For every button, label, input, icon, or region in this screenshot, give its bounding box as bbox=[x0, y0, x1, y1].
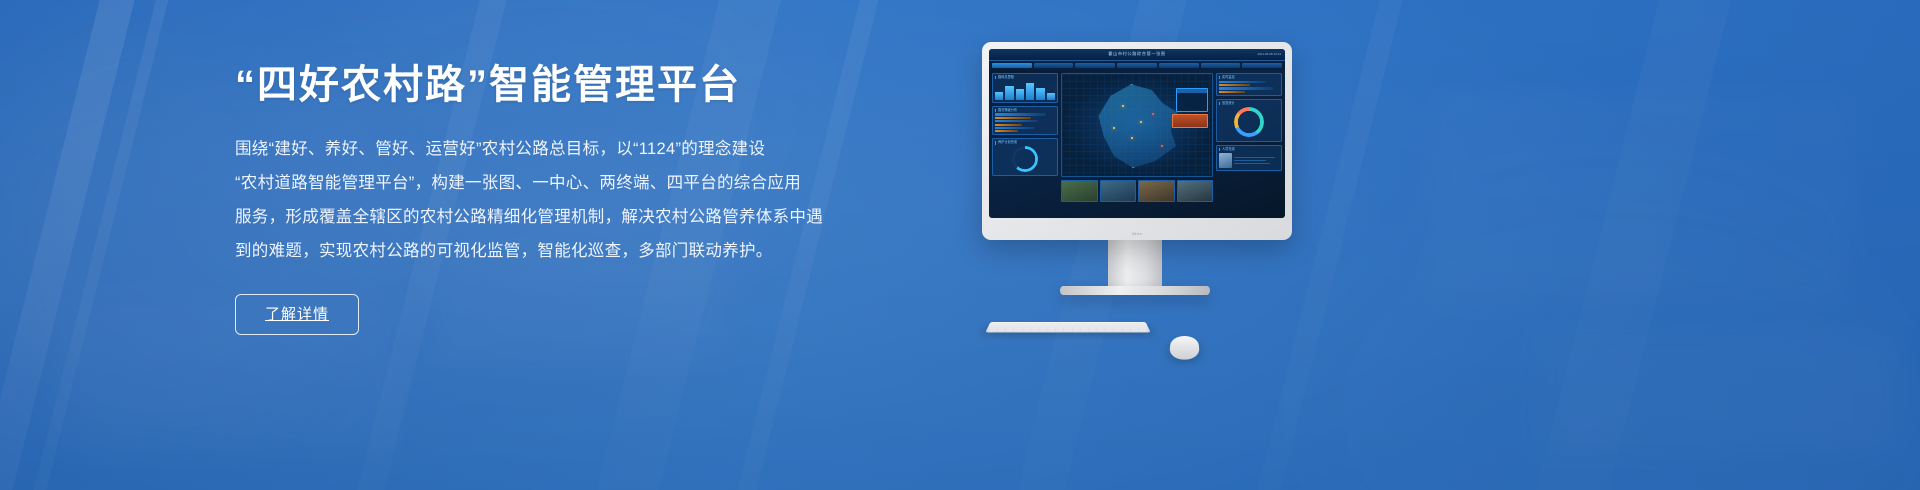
map-alert-badge bbox=[1172, 114, 1208, 128]
nav-item-6[interactable] bbox=[1242, 63, 1282, 68]
dashboard-ui: 霍山市村公路综合管一张图 2021-06-08 10:24 bbox=[989, 49, 1285, 218]
dashboard-right-column: 实时监控 巡查统计 人员在线 bbox=[1216, 73, 1282, 202]
person-details bbox=[1234, 157, 1279, 165]
thumbnail-0[interactable] bbox=[1061, 180, 1098, 202]
description-line-3: 服务，形成覆盖全辖区的农村公路精细化管理机制，解决农村公路管养体系中遇 bbox=[235, 201, 855, 235]
dashboard-clock: 2021-06-08 10:24 bbox=[1257, 53, 1281, 56]
monitor-screen: 霍山市村公路综合管一张图 2021-06-08 10:24 bbox=[989, 49, 1285, 218]
card-heading: 路况等级分布 bbox=[995, 109, 1055, 112]
dashboard-nav[interactable] bbox=[989, 61, 1285, 70]
nav-item-4[interactable] bbox=[1159, 63, 1199, 68]
list-rows bbox=[1219, 81, 1279, 93]
hero-description: 围绕“建好、养好、管好、运营好”农村公路总目标，以“1124”的理念建设 “农村… bbox=[235, 133, 855, 268]
thumbnail-3[interactable] bbox=[1177, 180, 1214, 202]
card-heading: 实时监控 bbox=[1219, 76, 1279, 79]
donut-chart bbox=[1234, 107, 1264, 137]
card-road-condition: 路况等级分布 bbox=[992, 106, 1058, 136]
thumbnail-1[interactable] bbox=[1100, 180, 1137, 202]
nav-item-0[interactable] bbox=[992, 63, 1032, 68]
card-road-mileage: 路网总里程 bbox=[992, 73, 1058, 103]
monitor-stand-neck bbox=[1108, 240, 1162, 286]
mouse bbox=[1169, 336, 1200, 360]
person-entry bbox=[1219, 153, 1279, 168]
card-personnel-online: 人员在线 bbox=[1216, 145, 1282, 171]
list-rows bbox=[995, 113, 1055, 132]
dashboard-center-column bbox=[1061, 73, 1213, 202]
thumbnail-2[interactable] bbox=[1138, 180, 1175, 202]
hero-content: “四好农村路”智能管理平台 围绕“建好、养好、管好、运营好”农村公路总目标，以“… bbox=[235, 60, 855, 335]
description-line-4: 到的难题，实现农村公路的可视化监管，智能化巡查，多部门联动养护。 bbox=[235, 235, 855, 269]
nav-item-1[interactable] bbox=[1034, 63, 1074, 68]
description-line-1: 围绕“建好、养好、管好、运营好”农村公路总目标，以“1124”的理念建设 bbox=[235, 133, 855, 167]
keyboard-keys bbox=[989, 323, 1147, 331]
dashboard-body: 路网总里程 路况等级分布 bbox=[989, 70, 1285, 205]
avatar bbox=[1219, 153, 1232, 168]
keyboard bbox=[985, 322, 1150, 333]
learn-more-button[interactable]: 了解详情 bbox=[235, 294, 359, 335]
monitor-frame: 霍山市村公路综合管一张图 2021-06-08 10:24 bbox=[982, 42, 1292, 240]
nav-item-5[interactable] bbox=[1201, 63, 1241, 68]
card-live-monitor: 实时监控 bbox=[1216, 73, 1282, 96]
card-maintenance-plan: 养护计划完成 bbox=[992, 138, 1058, 176]
dashboard-left-column: 路网总里程 路况等级分布 bbox=[992, 73, 1058, 202]
card-heading: 养护计划完成 bbox=[995, 141, 1055, 144]
card-heading: 路网总里程 bbox=[995, 76, 1055, 79]
dashboard-title: 霍山市村公路综合管一张图 bbox=[1108, 52, 1165, 56]
card-heading: 巡查统计 bbox=[1219, 102, 1279, 105]
monitor-brand-caption: iMac bbox=[982, 231, 1292, 236]
camera-thumbnails[interactable] bbox=[1061, 180, 1213, 202]
dashboard-header: 霍山市村公路综合管一张图 2021-06-08 10:24 bbox=[989, 49, 1285, 61]
hero-banner: “四好农村路”智能管理平台 围绕“建好、养好、管好、运营好”农村公路总目标，以“… bbox=[0, 0, 1920, 490]
card-inspection-stats: 巡查统计 bbox=[1216, 99, 1282, 142]
map-popup bbox=[1176, 88, 1208, 112]
card-heading: 人员在线 bbox=[1219, 148, 1279, 151]
nav-item-3[interactable] bbox=[1117, 63, 1157, 68]
map-view[interactable] bbox=[1061, 73, 1213, 177]
bar-chart bbox=[995, 81, 1055, 100]
nav-item-2[interactable] bbox=[1075, 63, 1115, 68]
monitor-stand-base bbox=[1060, 286, 1210, 295]
desktop-computer-illustration: 霍山市村公路综合管一张图 2021-06-08 10:24 bbox=[960, 42, 1310, 295]
description-line-2: “农村道路智能管理平台”，构建一张图、一中心、两终端、四平台的综合应用 bbox=[235, 167, 855, 201]
page-title: “四好农村路”智能管理平台 bbox=[235, 60, 855, 111]
progress-gauge bbox=[1012, 146, 1038, 172]
